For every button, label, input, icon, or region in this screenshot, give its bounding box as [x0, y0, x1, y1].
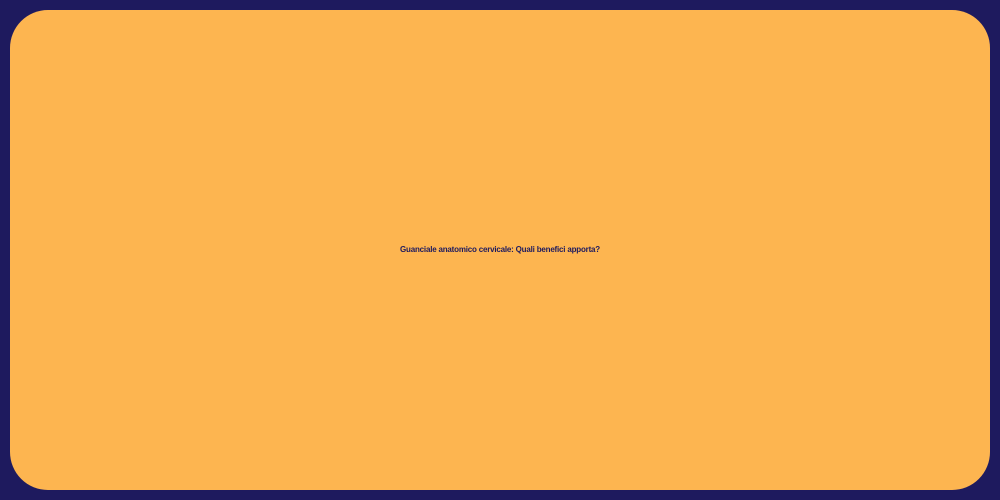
- page-background: Guanciale anatomico cervicale: Quali ben…: [0, 0, 1000, 500]
- page-title: Guanciale anatomico cervicale: Quali ben…: [10, 226, 990, 274]
- banner-card: Guanciale anatomico cervicale: Quali ben…: [10, 10, 990, 490]
